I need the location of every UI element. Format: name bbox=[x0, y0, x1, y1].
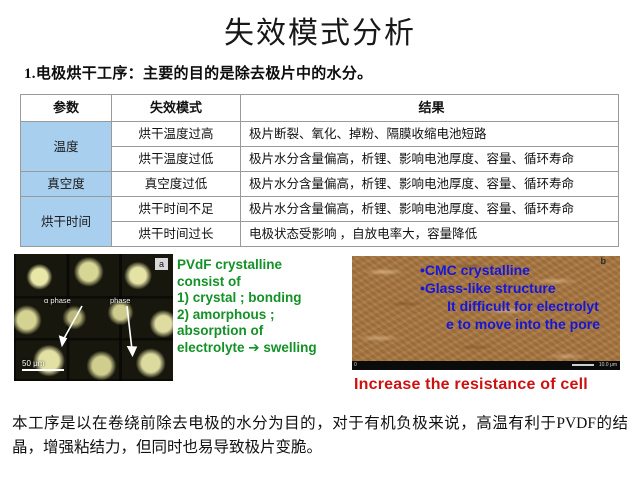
cell-mode: 烘干时间不足 bbox=[112, 197, 241, 222]
table-body: 温度 烘干温度过高 极片断裂、氧化、掉粉、隔膜收缩电池短路 烘干温度过低 极片水… bbox=[21, 122, 619, 247]
cell-param-temperature: 温度 bbox=[21, 122, 112, 172]
table-row: 真空度 真空度过低 极片水分含量偏高，析锂、影响电池厚度、容量、循环寿命 bbox=[21, 172, 619, 197]
micrograph-pvdf-crystalline: a α phase phase 50 μm bbox=[12, 252, 175, 383]
table-header: 参数 失效模式 结果 bbox=[21, 95, 619, 122]
arrow-alpha-icon bbox=[54, 304, 94, 350]
panel-label-a: a bbox=[155, 258, 168, 270]
cell-result: 极片断裂、氧化、掉粉、隔膜收缩电池短路 bbox=[241, 122, 619, 147]
column-header-result: 结果 bbox=[241, 95, 619, 122]
column-header-param: 参数 bbox=[21, 95, 112, 122]
slide-root: 失效模式分析 1.电极烘干工序：主要的目的是除去极片中的水分。 参数 失效模式 … bbox=[0, 0, 640, 480]
cell-result: 电极状态受影响 ，自放电率大，容量降低 bbox=[241, 222, 619, 247]
callout-blue-cmc: •CMC crystalline •Glass-like structure I… bbox=[406, 261, 640, 333]
cell-param-vacuum: 真空度 bbox=[21, 172, 112, 197]
infobar-left-label: 0 bbox=[354, 361, 357, 370]
section-subtitle: 1.电极烘干工序：主要的目的是除去极片中的水分。 bbox=[24, 62, 372, 83]
failure-mode-table: 参数 失效模式 结果 温度 烘干温度过高 极片断裂、氧化、掉粉、隔膜收缩电池短路… bbox=[20, 94, 619, 247]
callout-blue-line: •CMC crystalline bbox=[406, 261, 640, 279]
cell-result: 极片水分含量偏高，析锂、影响电池厚度、容量、循环寿命 bbox=[241, 197, 619, 222]
cell-mode: 烘干温度过高 bbox=[112, 122, 241, 147]
callout-green-line: PVdF crystalline bbox=[177, 257, 353, 274]
infobar-tick bbox=[572, 364, 594, 366]
callout-green-line: absorption of bbox=[177, 323, 353, 340]
callout-blue-line: It difficult for electrolyt bbox=[406, 297, 640, 315]
table-row: 温度 烘干温度过高 极片断裂、氧化、掉粉、隔膜收缩电池短路 bbox=[21, 122, 619, 147]
page-title: 失效模式分析 bbox=[0, 8, 640, 52]
scale-bar-label: 50 μm bbox=[22, 359, 44, 368]
table-row: 烘干时间 烘干时间不足 极片水分含量偏高，析锂、影响电池厚度、容量、循环寿命 bbox=[21, 197, 619, 222]
scale-bar-right: 0 10.0 μm bbox=[352, 361, 620, 370]
scale-bar-left: 50 μm bbox=[22, 359, 64, 371]
callout-green-line: 2) amorphous ; bbox=[177, 307, 353, 324]
table-header-row: 参数 失效模式 结果 bbox=[21, 95, 619, 122]
callout-green-line: consist of bbox=[177, 274, 353, 291]
cell-result: 极片水分含量偏高，析锂、影响电池厚度、容量、循环寿命 bbox=[241, 147, 619, 172]
infobar-right-label: 10.0 μm bbox=[599, 361, 617, 370]
cell-mode: 真空度过低 bbox=[112, 172, 241, 197]
callout-green-line: 1) crystal ; bonding bbox=[177, 290, 353, 307]
callout-green-line: electrolyte ➔ swelling bbox=[177, 340, 353, 357]
cell-mode: 烘干温度过低 bbox=[112, 147, 241, 172]
cell-mode: 烘干时间过长 bbox=[112, 222, 241, 247]
callout-green-pvdf: PVdF crystalline consist of 1) crystal ;… bbox=[177, 257, 353, 356]
column-header-mode: 失效模式 bbox=[112, 95, 241, 122]
callout-red-resistance: Increase the resistance of cell bbox=[354, 376, 588, 394]
arrow-beta-icon bbox=[117, 304, 143, 360]
callout-blue-line: e to move into the pore bbox=[406, 315, 640, 333]
bottom-paragraph: 本工序是以在卷绕前除去电极的水分为目的，对于有机负极来说，高温有利于PVDF的结… bbox=[12, 412, 628, 460]
cell-param-drying-time: 烘干时间 bbox=[21, 197, 112, 247]
cell-result: 极片水分含量偏高，析锂、影响电池厚度、容量、循环寿命 bbox=[241, 172, 619, 197]
scale-bar-line bbox=[22, 369, 64, 371]
callout-blue-line: •Glass-like structure bbox=[406, 279, 640, 297]
